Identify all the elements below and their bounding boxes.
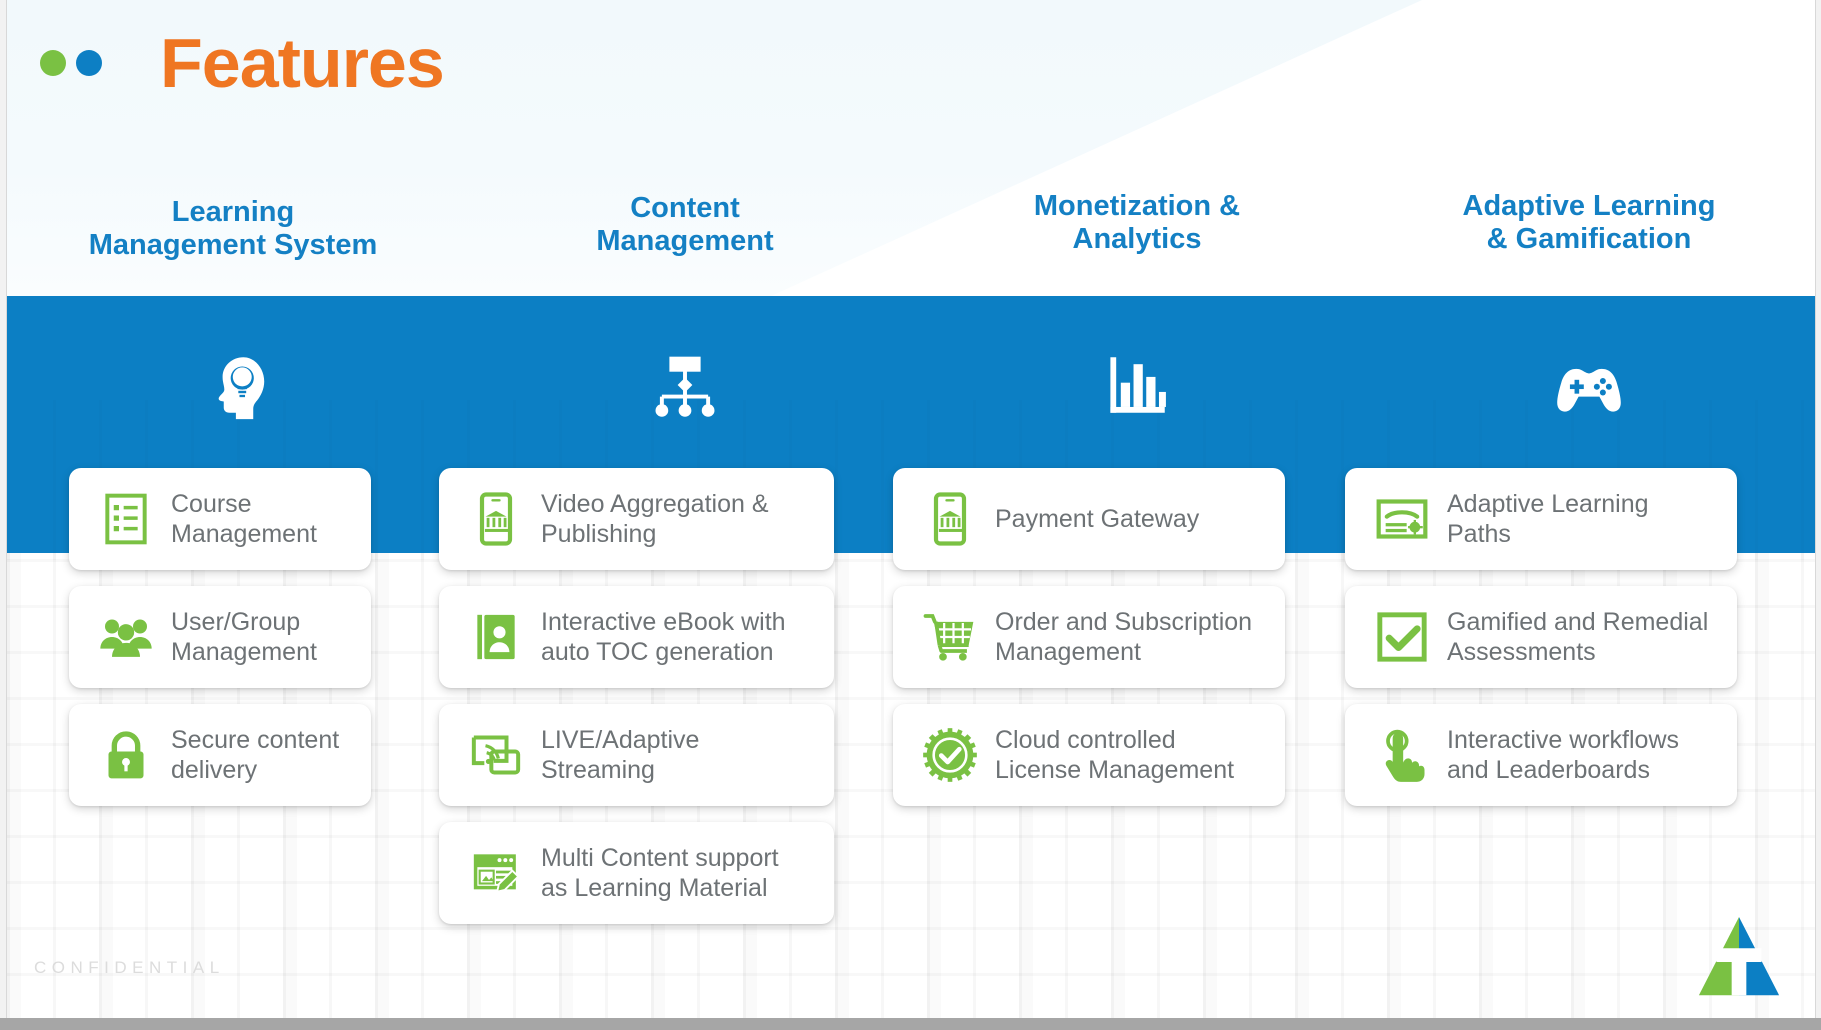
- feature-card[interactable]: Order and Subscription Management: [893, 586, 1285, 688]
- column-header-adaptive: Adaptive Learning & Gamification: [1363, 190, 1815, 290]
- feature-label: Multi Content support as Learning Materi…: [541, 843, 818, 904]
- feature-card[interactable]: Payment Gateway: [893, 468, 1285, 570]
- sitemap-hierarchy-icon: [648, 348, 722, 422]
- feature-card[interactable]: Interactive workflows and Leaderboards: [1345, 704, 1737, 806]
- feature-card[interactable]: User/Group Management: [69, 586, 371, 688]
- content-edit-icon: [465, 842, 527, 904]
- feature-label: Cloud controlled License Management: [995, 725, 1269, 786]
- feature-card[interactable]: Cloud controlled License Management: [893, 704, 1285, 806]
- feature-label: Gamified and Remedial Assessments: [1447, 607, 1721, 668]
- column-header-monetization: Monetization & Analytics: [911, 190, 1363, 290]
- band-icon-cell-monetization: [911, 330, 1363, 440]
- book-person-icon: [465, 606, 527, 668]
- band-icon-row: [7, 330, 1815, 440]
- column-header-lms: Learning Management System: [7, 190, 459, 290]
- feature-card[interactable]: Adaptive Learning Paths: [1345, 468, 1737, 570]
- slide-canvas: Features Learning Management System Cont…: [0, 0, 1821, 1030]
- feature-label: User/Group Management: [171, 607, 355, 668]
- cast-streaming-icon: [465, 724, 527, 786]
- feature-card[interactable]: Gamified and Remedial Assessments: [1345, 586, 1737, 688]
- bar-chart-icon: [1100, 348, 1174, 422]
- feature-card[interactable]: Interactive eBook with auto TOC generati…: [439, 586, 834, 688]
- mobile-bank-icon: [919, 488, 981, 550]
- certificate-icon: [1371, 488, 1433, 550]
- feature-columns: Course Management User/Group Mana: [7, 468, 1815, 1018]
- feature-card[interactable]: Video Aggregation & Publishing: [439, 468, 834, 570]
- feature-card[interactable]: LIVE/Adaptive Streaming: [439, 704, 834, 806]
- column-headers: Learning Management System Content Manag…: [7, 190, 1815, 290]
- feature-label: LIVE/Adaptive Streaming: [541, 725, 818, 786]
- blue-dot-icon: [76, 50, 102, 76]
- green-dot-icon: [40, 50, 66, 76]
- pyramid-t-logo: [1695, 912, 1783, 1008]
- band-icon-cell-adaptive: [1363, 330, 1815, 440]
- feature-label: Secure content delivery: [171, 725, 355, 786]
- feature-label: Video Aggregation & Publishing: [541, 489, 818, 550]
- band-icon-cell-content: [459, 330, 911, 440]
- window-gutter-right: [1815, 0, 1821, 1022]
- band-icon-cell-lms: [7, 330, 459, 440]
- confidential-label: CONFIDENTIAL: [34, 958, 225, 978]
- window-bottom-bar: [0, 1018, 1821, 1030]
- feature-label: Adaptive Learning Paths: [1447, 489, 1721, 550]
- feature-label: Course Management: [171, 489, 355, 550]
- shopping-cart-icon: [919, 606, 981, 668]
- feature-label: Payment Gateway: [995, 504, 1269, 535]
- window-gutter-left: [0, 0, 7, 1022]
- feature-label: Interactive workflows and Leaderboards: [1447, 725, 1721, 786]
- feature-card[interactable]: Multi Content support as Learning Materi…: [439, 822, 834, 924]
- page-title: Features: [160, 28, 444, 98]
- checklist-icon: [95, 488, 157, 550]
- gamepad-icon: [1552, 348, 1626, 422]
- users-group-icon: [95, 606, 157, 668]
- padlock-icon: [95, 724, 157, 786]
- feature-label: Interactive eBook with auto TOC generati…: [541, 607, 818, 668]
- feature-card[interactable]: Secure content delivery: [69, 704, 371, 806]
- head-with-lightbulb-icon: [196, 348, 270, 422]
- tap-hand-icon: [1371, 724, 1433, 786]
- feature-label: Order and Subscription Management: [995, 607, 1269, 668]
- feature-card[interactable]: Course Management: [69, 468, 371, 570]
- checkbox-check-icon: [1371, 606, 1433, 668]
- mobile-bank-icon: [465, 488, 527, 550]
- title-row: Features: [40, 28, 444, 98]
- column-header-content: Content Management: [459, 190, 911, 290]
- badge-check-icon: [919, 724, 981, 786]
